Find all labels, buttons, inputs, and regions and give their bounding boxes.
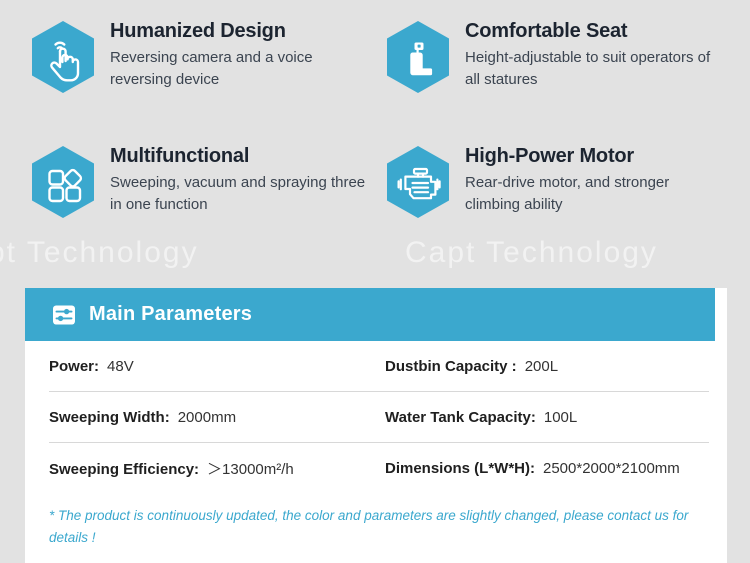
feature-grid: Humanized Design Reversing camera and a …	[0, 0, 750, 268]
parameters-disclaimer-note: * The product is continuously updated, t…	[25, 493, 727, 563]
param-label: Sweeping Width:	[49, 409, 170, 426]
feature-description: Sweeping, vacuum and spraying three in o…	[110, 172, 368, 216]
table-row: Sweeping Efficiency: ＞13000m²/h Dimensio…	[49, 443, 709, 493]
param-value: 200L	[525, 358, 558, 375]
four-shapes-icon	[30, 145, 96, 219]
table-row: Power: 48V Dustbin Capacity : 200L	[49, 341, 709, 392]
param-cell-power: Power: 48V	[49, 358, 385, 375]
feature-title: Comfortable Seat	[465, 20, 717, 44]
hand-tap-icon	[30, 20, 96, 94]
feature-description: Reversing camera and a voice reversing d…	[110, 47, 368, 91]
param-cell-sweeping-efficiency: Sweeping Efficiency: ＞13000m²/h	[49, 458, 385, 479]
feature-text: High-Power Motor Rear-drive motor, and s…	[465, 143, 717, 216]
seat-icon	[385, 20, 451, 94]
param-value: ＞13000m²/h	[207, 458, 294, 479]
param-cell-dimensions: Dimensions (L*W*H): 2500*2000*2100mm	[385, 460, 680, 477]
param-label: Water Tank Capacity:	[385, 409, 536, 426]
feature-title: Multifunctional	[110, 145, 368, 169]
main-parameters-title: Main Parameters	[89, 303, 252, 326]
feature-text: Humanized Design Reversing camera and a …	[110, 18, 368, 91]
param-cell-dustbin-capacity: Dustbin Capacity : 200L	[385, 358, 558, 375]
main-parameters-header: Main Parameters	[25, 288, 715, 341]
feature-description: Height-adjustable to suit operators of a…	[465, 47, 717, 91]
param-value: 100L	[544, 409, 577, 426]
engine-motor-icon	[385, 145, 451, 219]
feature-text: Multifunctional Sweeping, vacuum and spr…	[110, 143, 368, 216]
param-label: Dimensions (L*W*H):	[385, 460, 535, 477]
param-label: Sweeping Efficiency:	[49, 461, 199, 478]
feature-card-humanized-design: Humanized Design Reversing camera and a …	[0, 18, 370, 143]
feature-title: Humanized Design	[110, 20, 368, 44]
feature-text: Comfortable Seat Height-adjustable to su…	[465, 18, 717, 91]
main-parameters-card: Main Parameters Power: 48V Dustbin Capac…	[25, 288, 727, 563]
param-value: 48V	[107, 358, 134, 375]
feature-title: High-Power Motor	[465, 145, 717, 169]
sliders-icon	[52, 303, 76, 327]
feature-card-multifunctional: Multifunctional Sweeping, vacuum and spr…	[0, 143, 370, 268]
param-value: 2000mm	[178, 409, 236, 426]
main-parameters-body: Power: 48V Dustbin Capacity : 200L Sweep…	[25, 341, 727, 493]
param-label: Dustbin Capacity :	[385, 358, 517, 375]
table-row: Sweeping Width: 2000mm Water Tank Capaci…	[49, 392, 709, 443]
feature-card-high-power-motor: High-Power Motor Rear-drive motor, and s…	[370, 143, 750, 268]
param-value: 2500*2000*2100mm	[543, 460, 680, 477]
param-label: Power:	[49, 358, 99, 375]
feature-description: Rear-drive motor, and stronger climbing …	[465, 172, 717, 216]
param-cell-water-tank-capacity: Water Tank Capacity: 100L	[385, 409, 577, 426]
feature-card-comfortable-seat: Comfortable Seat Height-adjustable to su…	[370, 18, 750, 143]
param-cell-sweeping-width: Sweeping Width: 2000mm	[49, 409, 385, 426]
